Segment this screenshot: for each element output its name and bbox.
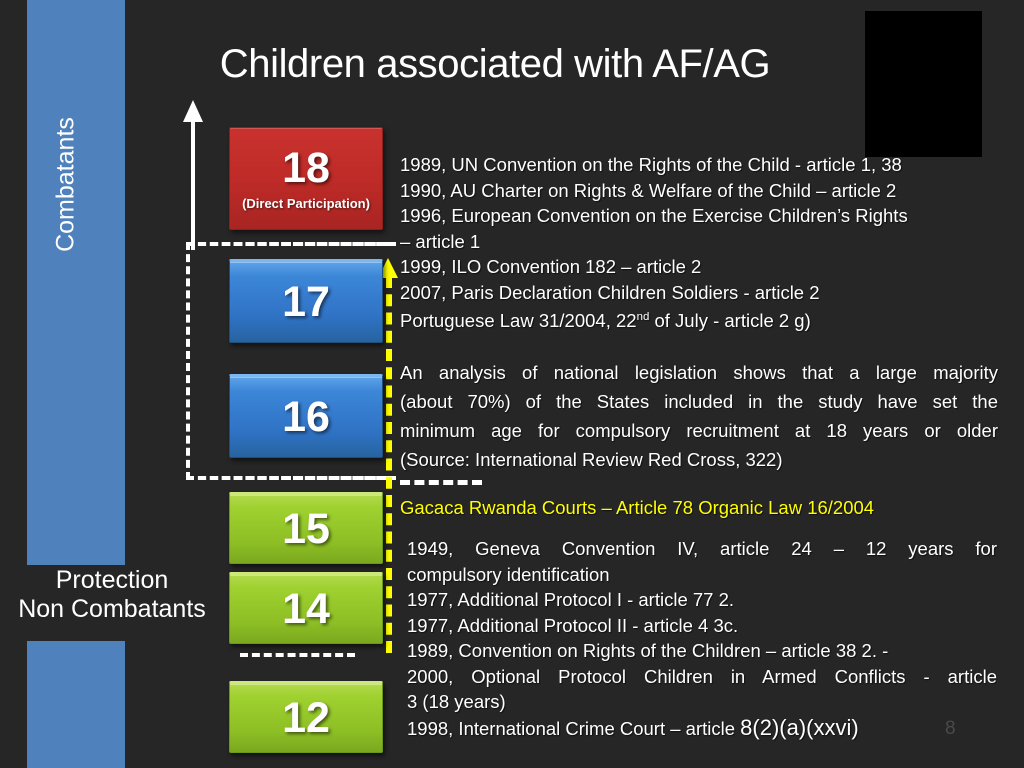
portuguese-law-text-end: of July - article 2 g) <box>649 310 810 331</box>
page-number: 8 <box>945 718 956 740</box>
treaty-line: 2000, Optional Protocol Children in Arme… <box>407 664 997 690</box>
article-reference: 8(2)(a)(xxvi) <box>740 715 859 740</box>
white-dashed-bottom-extension <box>186 476 396 480</box>
treaty-list-top: 1989, UN Convention on the Rights of the… <box>400 152 1000 334</box>
paragraph-line: An analysis of national legislation show… <box>400 358 998 387</box>
treaty-line: 1989, UN Convention on the Rights of the… <box>400 152 1000 178</box>
age-box-18[interactable]: 18 (Direct Participation) <box>229 127 383 230</box>
age-box-sublabel: (Direct Participation) <box>242 196 370 211</box>
age-box-15[interactable]: 15 <box>229 492 383 564</box>
left-accent-bar-bottom <box>27 641 125 768</box>
treaty-line-part: for <box>975 538 997 559</box>
treaty-line: 1990, AU Charter on Rights & Welfare of … <box>400 178 1000 204</box>
gacaca-highlight-text: Gacaca Rwanda Courts – Article 78 Organi… <box>400 495 1000 520</box>
age-box-number: 15 <box>282 508 330 551</box>
white-dashed-separator-mid <box>400 480 482 485</box>
ordinal-suffix: nd <box>637 311 650 323</box>
treaty-line: 1977, Additional Protocol I - article 77… <box>407 587 997 613</box>
treaty-line: 3 (18 years) <box>407 689 997 715</box>
treaty-line: 1996, European Convention on the Exercis… <box>400 203 1000 229</box>
paragraph-line: (about 70%) of the States included in th… <box>400 387 998 416</box>
white-dashed-top-extension <box>186 242 396 246</box>
age-box-17[interactable]: 17 <box>229 259 383 343</box>
treaty-line: 2007, Paris Declaration Children Soldier… <box>400 280 1000 306</box>
axis-up-arrow-icon <box>182 100 204 250</box>
image-placeholder <box>865 11 982 157</box>
treaty-line-part: 1998, International Crime Court – articl… <box>407 718 740 739</box>
age-box-number: 16 <box>282 396 330 439</box>
treaty-line-portuguese-law: Portuguese Law 31/2004, 22nd of July - a… <box>400 305 1000 334</box>
treaty-line: 1977, Additional Protocol II - article 4… <box>407 613 997 639</box>
left-accent-bar-top <box>27 0 125 565</box>
paragraph-line: minimum age for compulsory recruitment a… <box>400 416 998 445</box>
analysis-paragraph: An analysis of national legislation show… <box>400 358 998 474</box>
age-box-14[interactable]: 14 <box>229 572 383 644</box>
treaty-line-part: 1949, Geneva Convention IV, article 24 –… <box>407 538 954 559</box>
treaty-line: 1989, Convention on Rights of the Childr… <box>407 638 997 664</box>
protection-line-1: Protection <box>0 566 224 595</box>
age-box-number: 18 <box>282 147 330 190</box>
treaty-line: 1949, Geneva Convention IV, article 24 –… <box>407 536 997 562</box>
treaty-line: 1998, International Crime Court – articl… <box>407 715 997 742</box>
treaty-line: – article 1 <box>400 229 1000 255</box>
page-title: Children associated with AF/AG <box>150 36 840 92</box>
treaty-line: 1999, ILO Convention 182 – article 2 <box>400 254 1000 280</box>
treaty-line: compulsory identification <box>407 562 997 588</box>
portuguese-law-text: Portuguese Law 31/2004, 22 <box>400 310 637 331</box>
age-box-number: 12 <box>282 697 330 740</box>
yellow-dashed-line <box>386 276 392 653</box>
age-box-12[interactable]: 12 <box>229 681 383 753</box>
age-box-16[interactable]: 16 <box>229 374 383 458</box>
age-box-number: 17 <box>282 281 330 324</box>
age-box-number: 14 <box>282 588 330 631</box>
white-dashed-separator-short <box>240 653 355 657</box>
slide-canvas: Children associated with AF/AG Combatant… <box>0 0 1024 768</box>
treaty-list-bottom: 1949, Geneva Convention IV, article 24 –… <box>407 536 997 741</box>
axis-label-protection: Protection Non Combatants <box>0 566 224 624</box>
paragraph-line: (Source: International Review Red Cross,… <box>400 445 998 474</box>
protection-line-2: Non Combatants <box>0 595 224 624</box>
axis-label-combatants: Combatants <box>52 95 81 275</box>
